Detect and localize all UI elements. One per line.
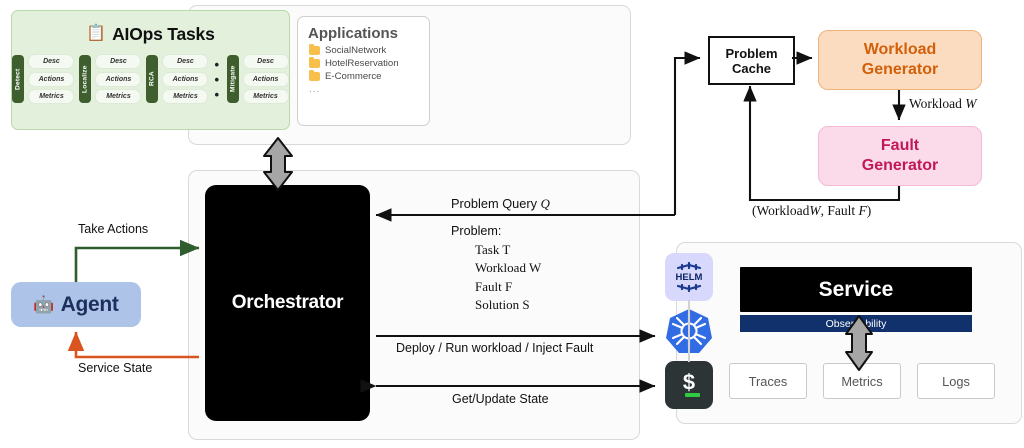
task-pills-detect: Desc Actions Metrics [28, 54, 74, 104]
helm-icon[interactable]: HELM [665, 253, 713, 301]
applications-card: Applications SocialNetwork HotelReservat… [297, 16, 430, 126]
kubernetes-icon[interactable] [665, 307, 713, 355]
pair-open: (Workload [752, 203, 809, 218]
pair-close: ) [867, 203, 872, 218]
task-pills-mitigate: Desc Actions Metrics [243, 54, 289, 104]
aiops-tasks-card: 📋 AIOps Tasks Detect Desc Actions Metric… [11, 10, 290, 130]
agent-box[interactable]: 🤖 Agent [11, 282, 141, 327]
applications-title: Applications [308, 25, 429, 42]
application-item-ecommerce[interactable]: E-Commerce [309, 71, 429, 82]
pill-actions[interactable]: Actions [162, 72, 208, 87]
application-label: E-Commerce [325, 71, 382, 82]
terminal-prompt-glyph: $ [682, 373, 695, 395]
problem-field-task: Task T [451, 241, 541, 260]
service-state-label: Service State [78, 361, 152, 375]
pill-desc[interactable]: Desc [95, 54, 141, 69]
problem-cache-line2: Cache [732, 61, 771, 76]
pill-metrics[interactable]: Metrics [28, 89, 74, 104]
take-actions-arrow [76, 248, 199, 282]
pill-desc[interactable]: Desc [162, 54, 208, 69]
problem-field-fault: Fault F [451, 278, 541, 297]
applications-ellipsis: ... [309, 84, 429, 95]
task-strip: Detect Desc Actions Metrics Localize Des… [12, 54, 289, 104]
service-bar: Service [740, 267, 972, 312]
service-state-arrow [76, 332, 199, 357]
problem-field-workload: Workload W [451, 259, 541, 278]
task-group-detect[interactable]: Detect Desc Actions Metrics [12, 54, 74, 104]
pill-desc[interactable]: Desc [243, 54, 289, 69]
pill-metrics[interactable]: Metrics [243, 89, 289, 104]
workload-w-label: Workload W [909, 96, 977, 112]
pill-metrics[interactable]: Metrics [95, 89, 141, 104]
application-item-socialnetwork[interactable]: SocialNetwork [309, 45, 429, 56]
problem-query-feed [675, 58, 700, 215]
observability-label: Observability [826, 318, 887, 330]
task-group-mitigate[interactable]: Mitigate Desc Actions Metrics [227, 54, 289, 104]
helm-glyph: HELM [669, 257, 709, 297]
workload-fault-pair-label: (WorkloadW, Fault F) [752, 203, 871, 219]
agent-label: Agent [61, 293, 119, 317]
problem-definition-block: Problem: Task T Workload W Fault F Solut… [451, 222, 541, 315]
workload-w-var: W [965, 96, 976, 111]
pill-actions[interactable]: Actions [243, 72, 289, 87]
kubernetes-glyph [665, 307, 713, 355]
problem-cache-box[interactable]: Problem Cache [708, 36, 795, 85]
task-ellipsis: • • • [213, 57, 221, 102]
clipboard-icon: 📋 [86, 26, 106, 42]
fault-generator-line2: Generator [862, 156, 938, 176]
pill-actions[interactable]: Actions [28, 72, 74, 87]
service-title: Service [819, 278, 894, 302]
task-tab-rca[interactable]: RCA [146, 55, 158, 103]
task-tab-localize[interactable]: Localize [79, 55, 91, 103]
application-label: HotelReservation [325, 58, 399, 69]
deploy-run-inject-label: Deploy / Run workload / Inject Fault [396, 341, 593, 355]
problem-field-solution: Solution S [451, 296, 541, 315]
metrics-box[interactable]: Metrics [823, 363, 901, 399]
get-update-state-label: Get/Update State [452, 392, 549, 406]
aiops-tasks-title-text: AIOps Tasks [112, 24, 215, 45]
observability-bar: Observability [740, 315, 972, 332]
svg-text:HELM: HELM [676, 272, 703, 283]
workload-generator-line2: Generator [862, 60, 938, 80]
take-actions-label: Take Actions [78, 222, 148, 236]
folder-icon [309, 72, 320, 81]
workload-generator-line1: Workload [864, 40, 937, 60]
robot-icon: 🤖 [33, 295, 54, 315]
task-group-rca[interactable]: RCA Desc Actions Metrics [146, 54, 208, 104]
pill-desc[interactable]: Desc [28, 54, 74, 69]
problem-heading: Problem: [451, 222, 541, 241]
folder-icon [309, 46, 320, 55]
terminal-icon[interactable]: $ [665, 361, 713, 409]
folder-icon [309, 59, 320, 68]
workload-generator-box[interactable]: Workload Generator [818, 30, 982, 90]
traces-box[interactable]: Traces [729, 363, 807, 399]
pill-metrics[interactable]: Metrics [162, 89, 208, 104]
fault-generator-line1: Fault [881, 136, 919, 156]
task-group-localize[interactable]: Localize Desc Actions Metrics [79, 54, 141, 104]
task-tab-detect[interactable]: Detect [12, 55, 24, 103]
application-label: SocialNetwork [325, 45, 386, 56]
pair-f: F [859, 203, 867, 218]
orchestrator-box[interactable]: Orchestrator [205, 185, 370, 421]
task-pills-localize: Desc Actions Metrics [95, 54, 141, 104]
aiops-tasks-title: 📋 AIOps Tasks [12, 19, 289, 49]
workload-w-text: Workload [909, 96, 962, 111]
application-item-hotelreservation[interactable]: HotelReservation [309, 58, 429, 69]
pill-actions[interactable]: Actions [95, 72, 141, 87]
problem-query-label: Problem Query Q [451, 196, 550, 212]
task-pills-rca: Desc Actions Metrics [162, 54, 208, 104]
problem-query-text: Problem Query [451, 196, 537, 211]
orchestrator-label: Orchestrator [232, 292, 344, 314]
pair-mid: , Fault [821, 203, 856, 218]
task-tab-mitigate[interactable]: Mitigate [227, 55, 239, 103]
problem-query-var: Q [541, 197, 550, 211]
problem-cache-line1: Problem [725, 46, 777, 61]
logs-box[interactable]: Logs [917, 363, 995, 399]
terminal-cursor-glyph [685, 393, 700, 397]
pair-w: W [809, 203, 820, 218]
fault-generator-box[interactable]: Fault Generator [818, 126, 982, 186]
